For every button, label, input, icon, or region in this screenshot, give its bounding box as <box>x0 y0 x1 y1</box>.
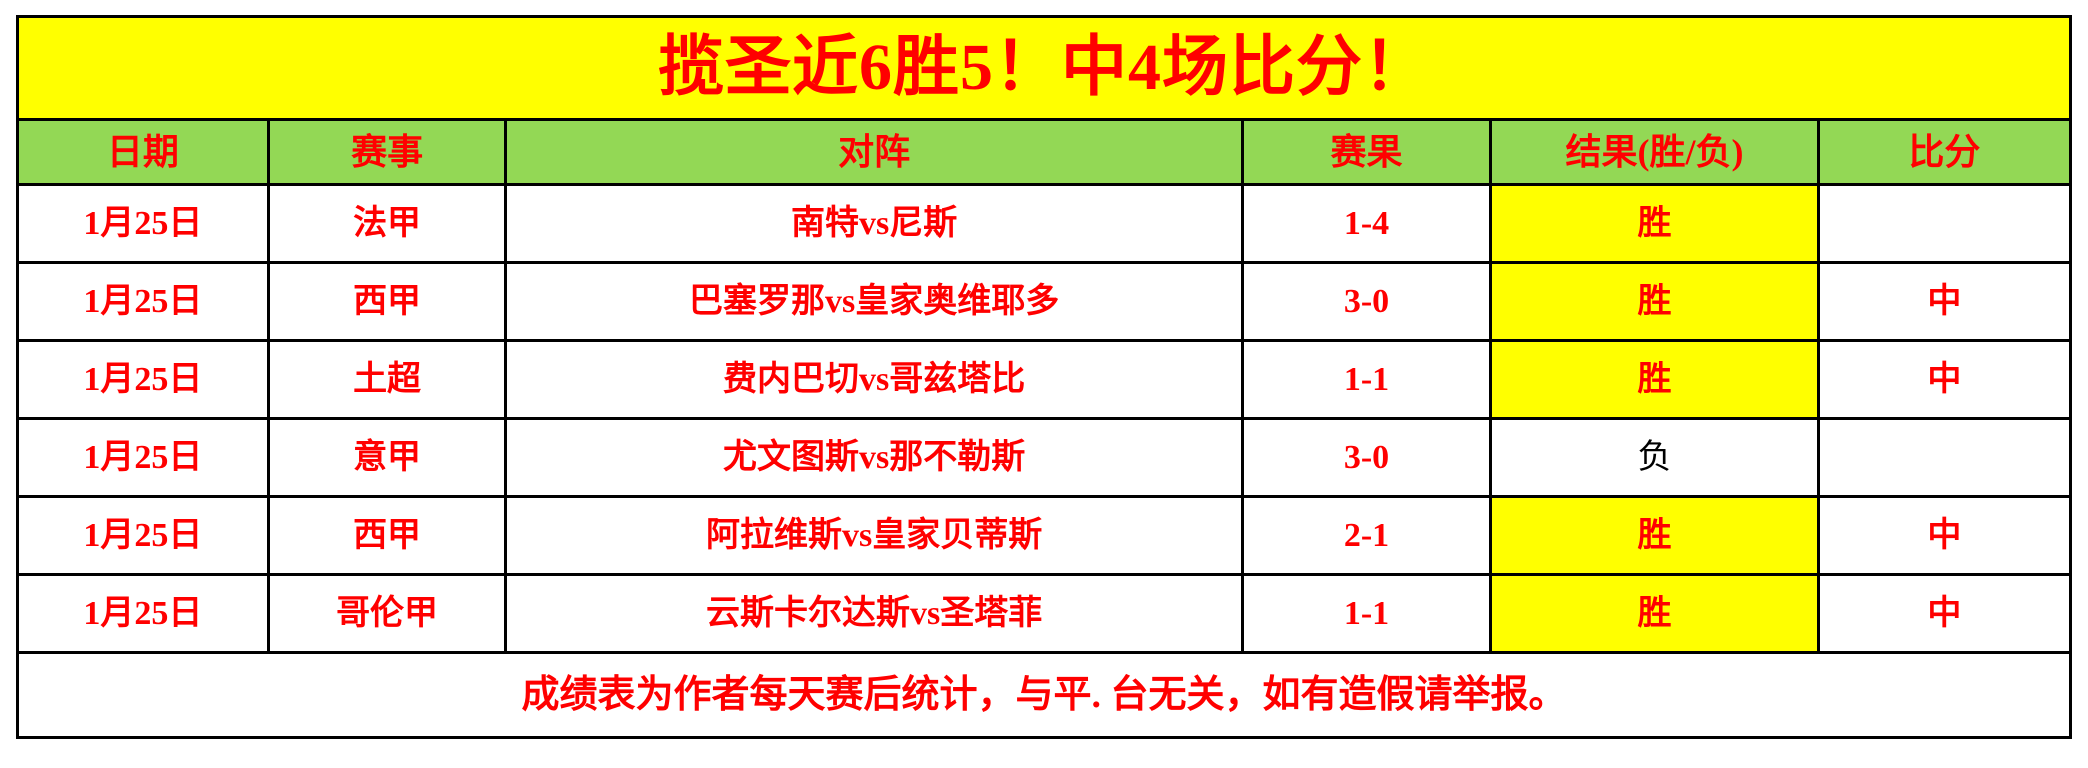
column-header-match-label: 对阵 <box>838 132 910 172</box>
cell-match: 云斯卡尔达斯vs圣塔菲 <box>506 575 1243 653</box>
cell-league-value: 西甲 <box>353 283 421 320</box>
column-header-result: 结果(胜/负) <box>1491 120 1819 185</box>
column-header-result-label: 结果(胜/负) <box>1565 132 1743 172</box>
cell-result: 胜 <box>1491 497 1819 575</box>
status-badge: 胜 <box>1637 283 1671 320</box>
cell-score: 1-1 <box>1242 341 1490 419</box>
cell-hit: 中 <box>1818 341 2070 419</box>
cell-score: 1-1 <box>1242 575 1490 653</box>
cell-match-value: 尤文图斯vs那不勒斯 <box>723 439 1025 476</box>
cell-date: 1月25日 <box>18 419 269 497</box>
cell-hit <box>1818 419 2070 497</box>
cell-date: 1月25日 <box>18 497 269 575</box>
cell-score: 3-0 <box>1242 419 1490 497</box>
cell-score-value: 3-0 <box>1344 439 1389 476</box>
cell-league-value: 哥伦甲 <box>336 595 438 632</box>
cell-match: 巴塞罗那vs皇家奥维耶多 <box>506 263 1243 341</box>
cell-result: 胜 <box>1491 263 1819 341</box>
cell-result: 胜 <box>1491 185 1819 263</box>
cell-hit-value: 中 <box>1927 595 1961 632</box>
cell-hit-value: 中 <box>1927 283 1961 320</box>
cell-match: 费内巴切vs哥兹塔比 <box>506 341 1243 419</box>
cell-date: 1月25日 <box>18 341 269 419</box>
cell-date-value: 1月25日 <box>83 361 202 398</box>
cell-date: 1月25日 <box>18 185 269 263</box>
cell-league-value: 法甲 <box>353 205 421 242</box>
cell-score: 3-0 <box>1242 263 1490 341</box>
cell-league: 法甲 <box>268 185 506 263</box>
cell-match-value: 南特vs尼斯 <box>791 205 957 242</box>
footer-row: 成绩表为作者每天赛后统计，与平. 台无关，如有造假请举报。 <box>18 653 2071 738</box>
cell-match: 尤文图斯vs那不勒斯 <box>506 419 1243 497</box>
cell-match-value: 阿拉维斯vs皇家贝蒂斯 <box>706 517 1042 554</box>
cell-score-value: 1-1 <box>1344 595 1389 632</box>
title-row: 揽圣近6胜5！中4场比分！ <box>18 17 2071 120</box>
cell-hit-value: 中 <box>1927 517 1961 554</box>
cell-hit <box>1818 185 2070 263</box>
title-banner-cell: 揽圣近6胜5！中4场比分！ <box>18 17 2071 120</box>
column-header-hit: 比分 <box>1818 120 2070 185</box>
cell-match-value: 云斯卡尔达斯vs圣塔菲 <box>706 595 1042 632</box>
table-row: 1月25日 意甲 尤文图斯vs那不勒斯 3-0 负 <box>18 419 2071 497</box>
column-header-date-label: 日期 <box>107 132 179 172</box>
cell-date-value: 1月25日 <box>83 205 202 242</box>
cell-league-value: 意甲 <box>353 439 421 476</box>
cell-league: 西甲 <box>268 497 506 575</box>
table-row: 1月25日 西甲 阿拉维斯vs皇家贝蒂斯 2-1 胜 中 <box>18 497 2071 575</box>
cell-result: 负 <box>1491 419 1819 497</box>
cell-date: 1月25日 <box>18 263 269 341</box>
cell-hit: 中 <box>1818 263 2070 341</box>
footer-note-cell: 成绩表为作者每天赛后统计，与平. 台无关，如有造假请举报。 <box>18 653 2071 738</box>
cell-score-value: 3-0 <box>1344 283 1389 320</box>
cell-score: 2-1 <box>1242 497 1490 575</box>
status-badge: 胜 <box>1637 361 1671 398</box>
header-row: 日期 赛事 对阵 赛果 结果(胜/负) 比分 <box>18 120 2071 185</box>
cell-hit: 中 <box>1818 575 2070 653</box>
cell-match: 南特vs尼斯 <box>506 185 1243 263</box>
cell-match: 阿拉维斯vs皇家贝蒂斯 <box>506 497 1243 575</box>
column-header-hit-label: 比分 <box>1908 132 1980 172</box>
results-table: 揽圣近6胜5！中4场比分！ 日期 赛事 对阵 赛果 结果(胜/负) <box>16 15 2072 739</box>
table-row: 1月25日 哥伦甲 云斯卡尔达斯vs圣塔菲 1-1 胜 中 <box>18 575 2071 653</box>
column-header-league: 赛事 <box>268 120 506 185</box>
column-header-date: 日期 <box>18 120 269 185</box>
column-header-score-label: 赛果 <box>1330 132 1402 172</box>
table-row: 1月25日 西甲 巴塞罗那vs皇家奥维耶多 3-0 胜 中 <box>18 263 2071 341</box>
cell-date-value: 1月25日 <box>83 283 202 320</box>
cell-result: 胜 <box>1491 575 1819 653</box>
status-badge: 胜 <box>1637 595 1671 632</box>
cell-date-value: 1月25日 <box>83 439 202 476</box>
cell-hit-value: 中 <box>1927 361 1961 398</box>
cell-league: 土超 <box>268 341 506 419</box>
cell-date-value: 1月25日 <box>83 517 202 554</box>
cell-score: 1-4 <box>1242 185 1490 263</box>
cell-score-value: 2-1 <box>1344 517 1389 554</box>
cell-league-value: 西甲 <box>353 517 421 554</box>
column-header-match: 对阵 <box>506 120 1243 185</box>
footer-note: 成绩表为作者每天赛后统计，与平. 台无关，如有造假请举报。 <box>521 674 1566 716</box>
page-title: 揽圣近6胜5！中4场比分！ <box>658 31 1430 104</box>
cell-date-value: 1月25日 <box>83 595 202 632</box>
table-row: 1月25日 法甲 南特vs尼斯 1-4 胜 <box>18 185 2071 263</box>
cell-hit: 中 <box>1818 497 2070 575</box>
results-sheet: 揽圣近6胜5！中4场比分！ 日期 赛事 对阵 赛果 结果(胜/负) <box>16 15 2072 739</box>
cell-date: 1月25日 <box>18 575 269 653</box>
cell-league-value: 土超 <box>353 361 421 398</box>
cell-league: 哥伦甲 <box>268 575 506 653</box>
column-header-score: 赛果 <box>1242 120 1490 185</box>
status-badge: 胜 <box>1637 517 1671 554</box>
cell-league: 西甲 <box>268 263 506 341</box>
column-header-league-label: 赛事 <box>351 132 423 172</box>
status-badge: 负 <box>1637 439 1671 476</box>
status-badge: 胜 <box>1637 205 1671 242</box>
cell-match-value: 费内巴切vs哥兹塔比 <box>723 361 1025 398</box>
cell-result: 胜 <box>1491 341 1819 419</box>
cell-league: 意甲 <box>268 419 506 497</box>
cell-score-value: 1-4 <box>1344 205 1389 242</box>
table-row: 1月25日 土超 费内巴切vs哥兹塔比 1-1 胜 中 <box>18 341 2071 419</box>
cell-score-value: 1-1 <box>1344 361 1389 398</box>
cell-match-value: 巴塞罗那vs皇家奥维耶多 <box>689 283 1059 320</box>
